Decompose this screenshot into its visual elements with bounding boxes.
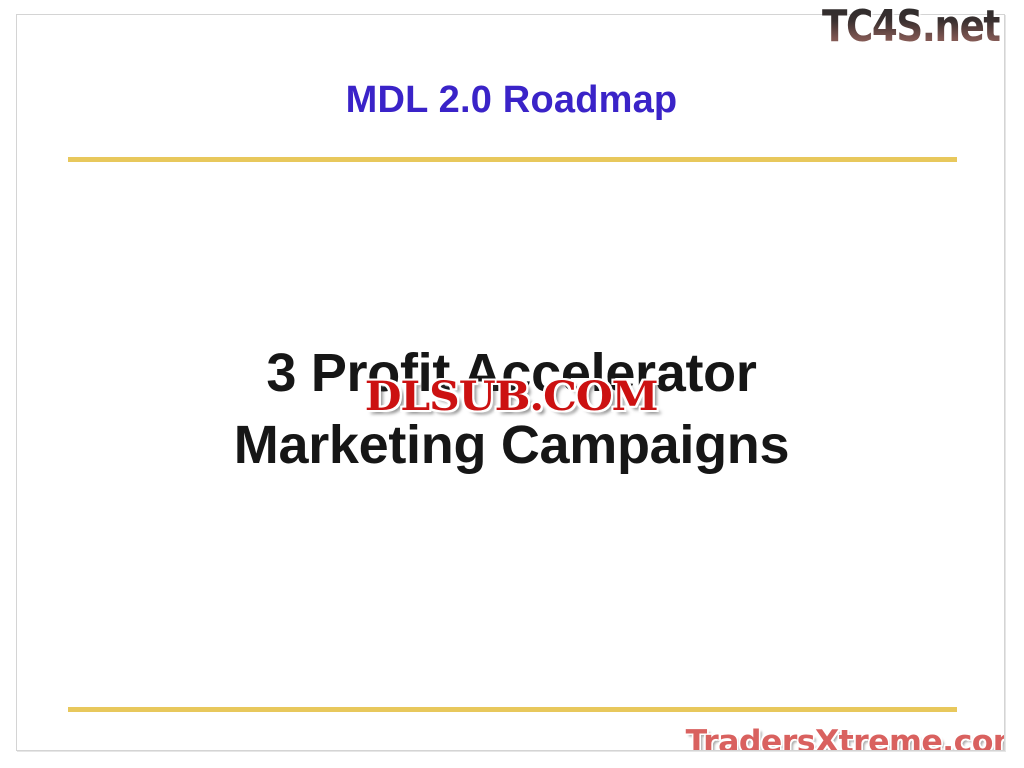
slide-body-heading-line-2: Marketing Campaigns xyxy=(17,409,1005,481)
slide-title: MDL 2.0 Roadmap xyxy=(17,79,1005,123)
slide-body-heading-line-1: 3 Profit Accelerator xyxy=(17,337,1005,409)
watermark-tradersxtreme-text: TradersXtreme.com xyxy=(686,724,1005,751)
divider-rule-bottom xyxy=(68,707,957,712)
slide-body-heading: 3 Profit Accelerator Marketing Campaigns xyxy=(17,337,1005,482)
slide-canvas: MDL 2.0 Roadmap 3 Profit Accelerator Mar… xyxy=(16,14,1005,751)
watermark-tradersxtreme: TradersXtreme.com xyxy=(689,724,1005,751)
divider-rule-top xyxy=(68,157,957,162)
